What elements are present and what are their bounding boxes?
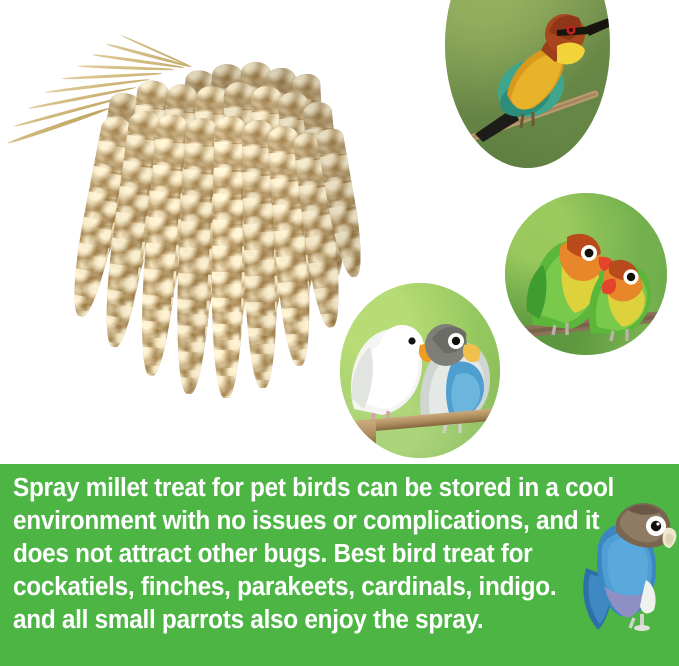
banner-line-3: does not attract other bugs. Best bird t… [13, 538, 544, 571]
perch-bracket [354, 421, 376, 447]
banner-line-2: environment with no issues or complicati… [13, 505, 544, 538]
banner-text-block: Spray millet treat for pet birds can be … [13, 472, 544, 637]
banner-line-5: and all small parrots also enjoy the spr… [13, 604, 544, 637]
blue-masked-lovebird-mascot [568, 494, 679, 634]
millet-spray-photo [0, 10, 380, 410]
product-image-canvas: Spray millet treat for pet birds can be … [0, 0, 679, 666]
lovebirds-illustration [505, 193, 667, 355]
description-banner: Spray millet treat for pet birds can be … [0, 464, 679, 666]
fischers-lovebirds-photo [505, 193, 667, 355]
european-bee-eater-photo [445, 0, 610, 168]
white-and-blue-lovebirds-photo [340, 283, 500, 458]
banner-line-4: cockatiels, finches, parakeets, cardinal… [13, 571, 544, 604]
bee-eater-illustration [445, 0, 610, 168]
banner-line-1: Spray millet treat for pet birds can be … [13, 472, 544, 505]
